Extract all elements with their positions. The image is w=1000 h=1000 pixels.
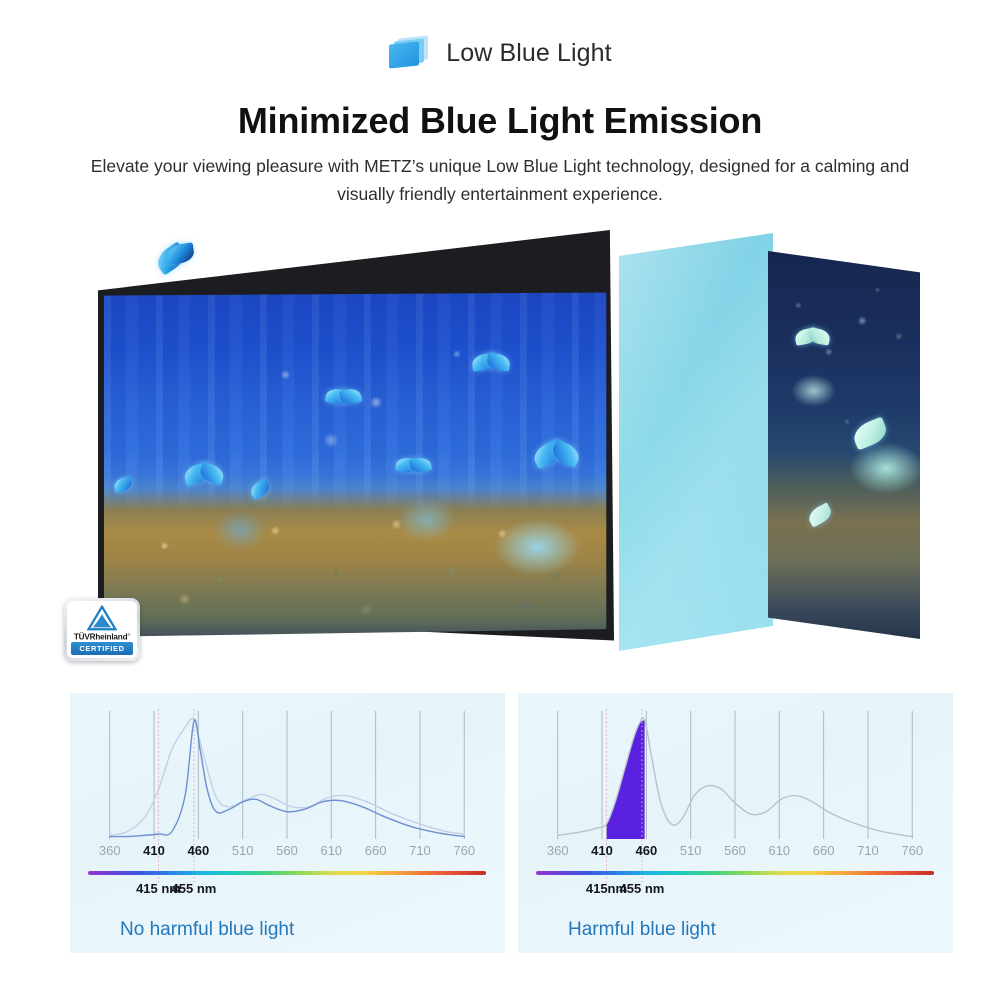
nm-marker-455: 455 nm <box>620 881 665 896</box>
x-tick-660: 660 <box>813 843 835 858</box>
x-tick-360: 360 <box>547 843 569 858</box>
tv-screen-image <box>104 292 609 636</box>
tv-illustration <box>98 230 614 655</box>
x-tick-760: 760 <box>453 843 475 858</box>
x-tick-360: 360 <box>99 843 121 858</box>
x-tick-660: 660 <box>365 843 387 858</box>
visible-spectrum-bar <box>88 871 486 875</box>
filtered-image-panel <box>768 251 920 639</box>
x-tick-610: 610 <box>320 843 342 858</box>
x-tick-410: 410 <box>591 843 613 858</box>
x-tick-710: 710 <box>857 843 879 858</box>
x-tick-410: 410 <box>143 843 165 858</box>
page-subtitle: Elevate your viewing pleasure with METZ’… <box>60 152 940 208</box>
x-tick-460: 460 <box>188 843 210 858</box>
chart-caption-left: No harmful blue light <box>120 919 294 941</box>
x-tick-460: 460 <box>636 843 658 858</box>
x-tick-610: 610 <box>768 843 790 858</box>
tuv-rheinland-triangle-mark <box>87 605 117 631</box>
x-tick-510: 510 <box>232 843 254 858</box>
nm-marker-labels-right: 415nm455 nm <box>540 881 930 901</box>
x-tick-710: 710 <box>409 843 431 858</box>
nm-marker-labels-left: 415 nm455 nm <box>92 881 482 901</box>
chart-no-harmful-blue-light: 360410460510560610660710760 415 nm455 nm… <box>70 693 505 953</box>
x-tick-560: 560 <box>724 843 746 858</box>
x-tick-760: 760 <box>901 843 923 858</box>
chart-caption-right: Harmful blue light <box>568 919 716 941</box>
chart-harmful-blue-light: 360410460510560610660710760 415nm455 nm … <box>518 693 953 953</box>
nm-marker-455: 455 nm <box>172 881 217 896</box>
certified-status-badge: CERTIFIED <box>71 642 133 655</box>
low-blue-light-label: Low Blue Light <box>446 39 611 68</box>
visible-spectrum-bar <box>536 871 934 875</box>
plot-area-left <box>92 711 482 839</box>
x-axis-ticks-right: 360410460510560610660710760 <box>540 843 930 863</box>
plot-area-right <box>540 711 930 839</box>
low-blue-light-badge: Low Blue Light <box>0 36 1000 70</box>
hero-product-scene <box>0 225 1000 680</box>
tuv-wordmark: TÜVRheinland® <box>74 632 130 642</box>
x-tick-560: 560 <box>276 843 298 858</box>
spectrum-charts: 360410460510560610660710760 415 nm455 nm… <box>0 693 1000 958</box>
tuv-rheinland-certified-badge: TÜVRheinland® CERTIFIED <box>64 598 140 661</box>
blue-light-filter-pane <box>619 233 773 651</box>
x-axis-ticks-left: 360410460510560610660710760 <box>92 843 482 863</box>
low-blue-light-screen-icon <box>388 36 432 70</box>
page-title: Minimized Blue Light Emission <box>0 100 1000 142</box>
x-tick-510: 510 <box>680 843 702 858</box>
